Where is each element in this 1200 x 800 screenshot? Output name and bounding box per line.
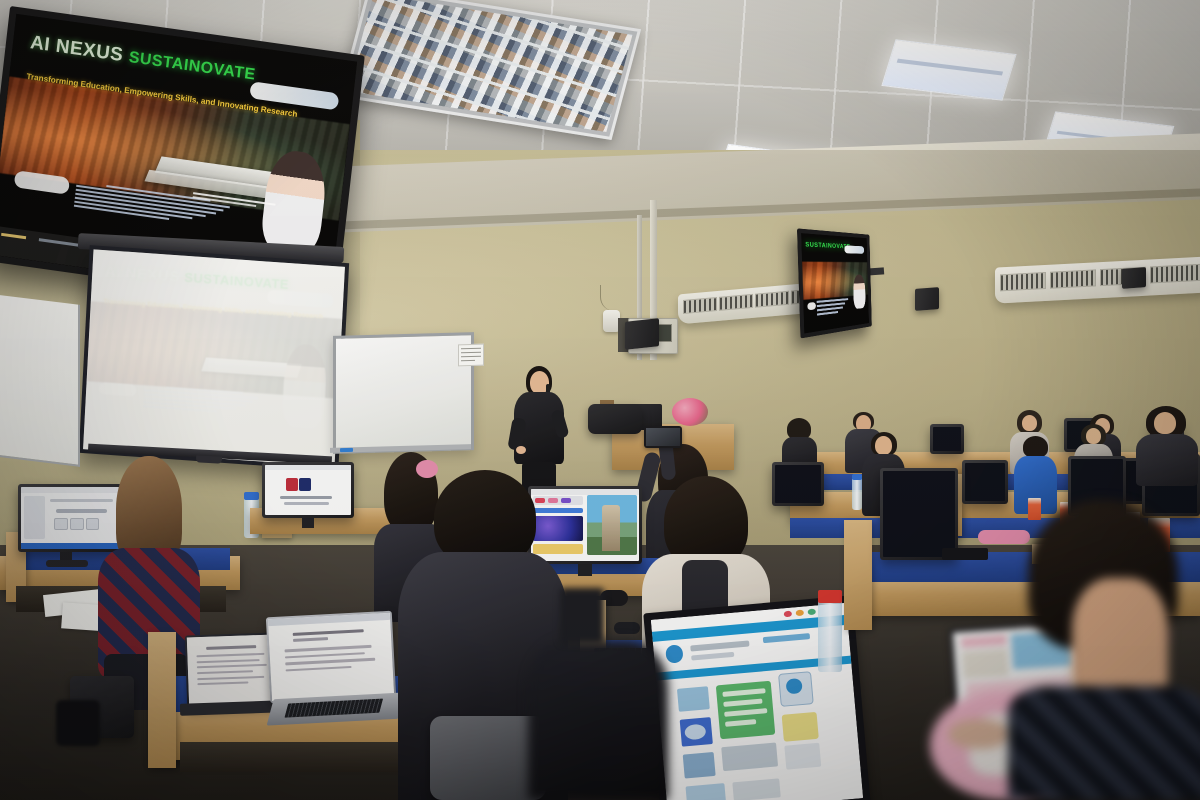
bottle-cap	[852, 474, 862, 480]
computer-mouse[interactable]	[614, 622, 640, 634]
ceiling-speaker	[625, 318, 659, 350]
monitor-base	[46, 560, 88, 567]
smartphone[interactable]	[644, 426, 682, 448]
desk-divider	[148, 632, 176, 768]
desktop-monitor	[930, 424, 964, 454]
monitor-stand	[578, 564, 592, 576]
photo-scene: AI NEXUS SUSTAINOVATE Transforming Educa…	[0, 0, 1200, 800]
whiteboard-marker[interactable]	[340, 448, 353, 452]
slide-title-primary: AI NEXUS	[29, 32, 124, 66]
water-bottle	[560, 588, 604, 644]
desktop-monitor	[262, 462, 354, 518]
ceiling-speaker	[915, 287, 939, 311]
tablet[interactable]	[185, 632, 280, 709]
audience-member	[528, 640, 668, 800]
whiteboard-notice	[458, 344, 484, 367]
side-wall-tv: SUSTAINOVATE	[797, 228, 872, 338]
water-bottle	[818, 600, 842, 672]
left-wall-whiteboard	[0, 295, 80, 467]
presenter-hand	[516, 446, 526, 454]
slide-side: SUSTAINOVATE	[801, 233, 869, 333]
water-bottle	[852, 478, 862, 510]
desktop-monitor	[772, 462, 824, 506]
monitor-stand	[302, 518, 314, 528]
ceiling-speaker	[1122, 267, 1146, 289]
slide-title-secondary: SUSTAINOVATE	[128, 49, 257, 84]
chair-base	[56, 700, 100, 746]
whiteboard	[333, 332, 474, 454]
desktop-monitor	[962, 460, 1008, 504]
sensor-wire	[600, 285, 631, 311]
podium-flowers	[672, 398, 708, 426]
desktop-monitor	[880, 468, 958, 560]
audience-member	[1008, 500, 1200, 800]
attendee-plaid-sweater	[92, 456, 200, 700]
desk-divider	[844, 520, 872, 630]
bottle-cap	[818, 590, 842, 603]
projector-screen: AI NEXUS SUSTAINOVATE Transforming Educa…	[79, 245, 349, 471]
laptop[interactable]	[266, 611, 396, 703]
chair[interactable]	[588, 404, 642, 434]
bottle-cap	[244, 492, 259, 500]
smartphone[interactable]	[942, 548, 988, 560]
audience-member	[1136, 406, 1200, 486]
